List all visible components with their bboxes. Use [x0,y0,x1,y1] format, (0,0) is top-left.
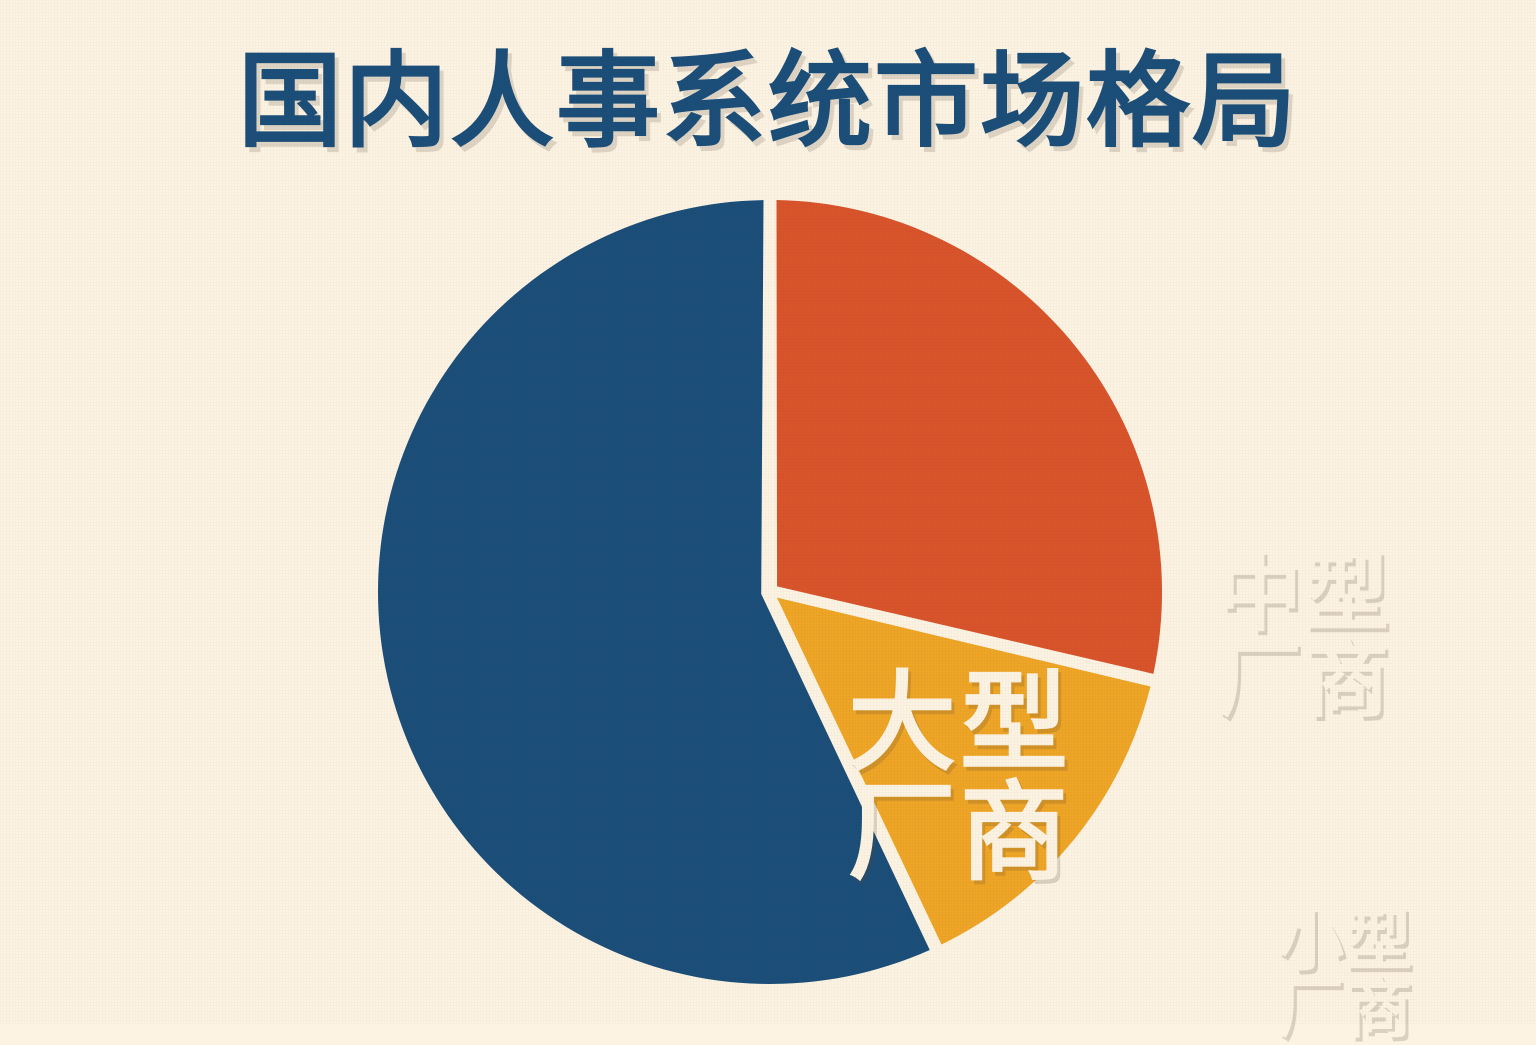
page-title: 国内人事系统市场格局 [0,46,1536,158]
slice-label-medium-vendors: 中型 厂商 [1218,552,1392,723]
slice-label-small-line1: 小型 [1278,908,1414,975]
pie-chart-svg [378,200,1162,984]
slice-label-small-line2: 厂商 [1278,975,1414,1042]
slice-label-medium-line2: 厂商 [1218,638,1392,724]
pie-chart: 大型 厂商 中型 厂商 小型 厂商 [378,200,1162,984]
slice-label-small-vendors: 小型 厂商 [1278,908,1414,1043]
slice-label-medium-line1: 中型 [1218,552,1392,638]
pie-slice[interactable] [776,200,1162,674]
